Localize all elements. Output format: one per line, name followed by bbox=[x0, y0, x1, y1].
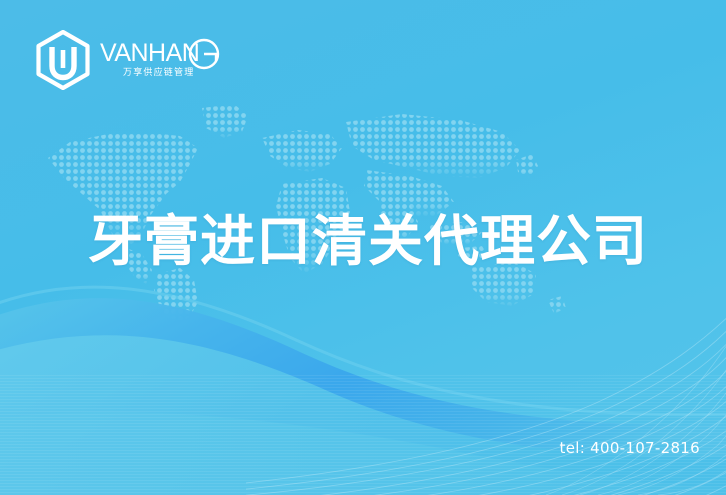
headline-title: 牙膏进口清关代理公司 bbox=[88, 209, 648, 274]
wordmark-letters: VANHAN bbox=[100, 39, 199, 67]
wordmark-subtitle: 万享供应链管理 bbox=[123, 66, 194, 78]
contact-telephone: tel: 400-107-2816 bbox=[560, 439, 700, 457]
hexagon-u-mark-icon bbox=[34, 30, 92, 90]
brand-wordmark: VANHAN 万享供应链管理 bbox=[100, 37, 220, 83]
brand-logo[interactable]: VANHAN 万享供应链管理 bbox=[34, 30, 220, 90]
promo-banner: VANHAN 万享供应链管理 牙膏进口清关代理公司 tel: 400-107-2… bbox=[0, 0, 726, 495]
